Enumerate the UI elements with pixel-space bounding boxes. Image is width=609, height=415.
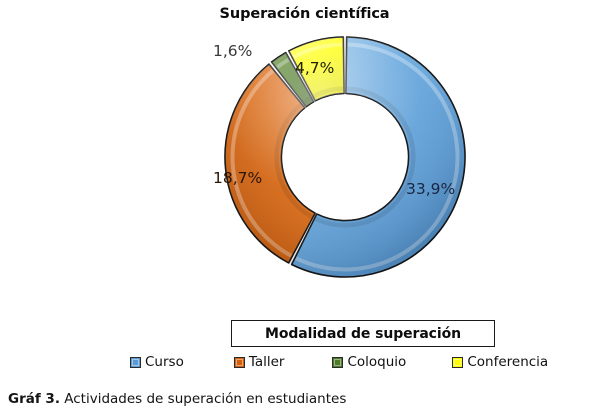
legend-title-box: Modalidad de superación [231,320,495,347]
legend-swatch-coloquio [332,357,343,368]
legend-swatch-conferencia [452,357,463,368]
data-label-curso: 33,9% [406,182,455,198]
chart-panel: Superación científica [0,0,609,380]
data-label-taller: 18,7% [213,171,262,187]
legend-label-conferencia: Conferencia [467,354,548,370]
doughnut-chart: 33,9% 18,7% 1,6% 4,7% [0,0,609,320]
slice-layer [225,37,465,277]
chart-legend: Curso Taller Coloquio Conferencia [130,352,600,372]
caption-figure-number: Gráf 3. [8,391,60,407]
legend-label-taller: Taller [249,354,285,370]
figure-caption: Gráf 3. Actividades de superación en est… [8,391,346,407]
legend-swatch-curso [130,357,141,368]
data-label-coloquio: 1,6% [213,44,252,60]
legend-item-coloquio[interactable]: Coloquio [332,354,406,370]
doughnut-svg [0,0,609,320]
caption-text: Actividades de superación en estudiantes [60,391,346,407]
legend-label-coloquio: Coloquio [347,354,406,370]
legend-title: Modalidad de superación [265,326,461,342]
legend-item-curso[interactable]: Curso [130,354,184,370]
legend-item-taller[interactable]: Taller [234,354,285,370]
legend-swatch-taller [234,357,245,368]
data-label-conferencia: 4,7% [295,61,334,77]
legend-item-conferencia[interactable]: Conferencia [452,354,548,370]
legend-label-curso: Curso [145,354,184,370]
